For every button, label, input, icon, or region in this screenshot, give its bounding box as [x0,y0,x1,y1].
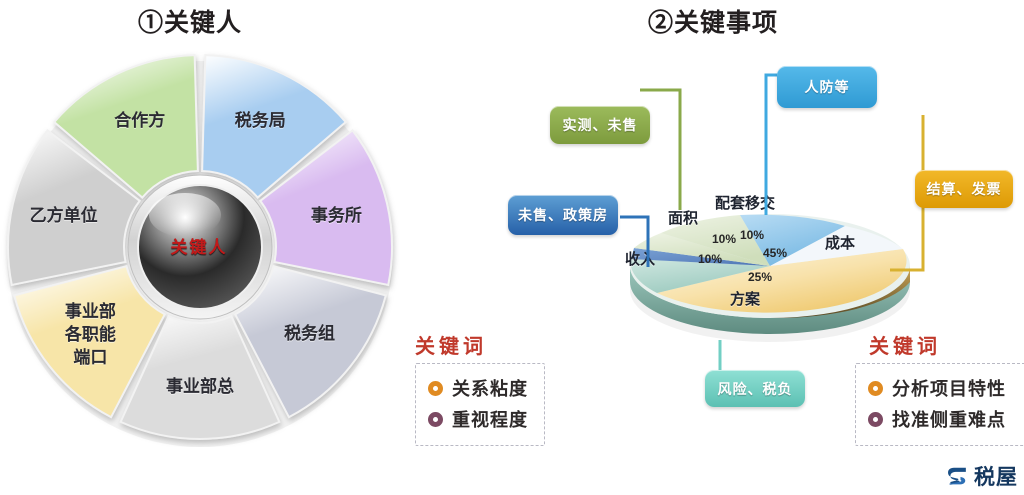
callout-shice-weishou[interactable]: 实测、未售 [550,106,650,144]
callout-label: 结算、发票 [927,179,1002,199]
list-item[interactable]: 分析项目特性 [868,375,1016,401]
keywords-left-block: 关键词 关系粘度 重视程度 [415,330,545,446]
callout-fengxian-shuifu[interactable]: 风险、税负 [705,370,805,407]
bullet-circle-icon [428,412,443,427]
shuiwu-s-logo-icon [945,464,970,489]
watermark-logo: 税屋 [945,461,1018,491]
donut-segment-label: 事业部总 [166,377,234,397]
list-item[interactable]: 重视程度 [428,406,534,432]
keywords-left-box: 关系粘度 重视程度 [415,363,545,446]
keywords-right-title: 关键词 [869,330,1024,359]
keywords-right-block: 关键词 分析项目特性 找准侧重难点 [855,330,1024,446]
callout-jiesuan-fapiao[interactable]: 结算、发票 [915,170,1013,208]
bullet-circle-icon [868,381,883,396]
callout-weishou-zhengcefang[interactable]: 未售、政策房 [508,195,618,235]
keyword-label: 找准侧重难点 [892,406,1006,432]
list-item[interactable]: 关系粘度 [428,375,534,401]
keyword-label: 分析项目特性 [892,375,1006,401]
donut-segment-label: 事业部各职能端口 [54,300,126,369]
donut-segment-label: 乙方单位 [30,206,98,226]
donut-segment-label: 事务所 [311,206,362,226]
callout-renfang[interactable]: 人防等 [777,66,877,108]
callout-label: 风险、税负 [718,379,793,399]
callout-label: 实测、未售 [563,115,638,135]
key-person-donut-chart: 关键人 税务局事务所税务组事业部总事业部各职能端口乙方单位合作方 [0,47,400,447]
keyword-label: 关系粘度 [452,375,528,401]
keywords-right-box: 分析项目特性 找准侧重难点 [855,363,1024,446]
donut-hub-label: 关键人 [142,233,256,258]
bullet-circle-icon [868,412,883,427]
page-title-key-person: ①关键人 [138,3,242,39]
keyword-label: 重视程度 [452,406,528,432]
list-item[interactable]: 找准侧重难点 [868,406,1016,432]
keywords-left-title: 关键词 [415,330,545,359]
donut-segment-label: 合作方 [114,111,165,131]
bullet-circle-icon [428,381,443,396]
callout-label: 人防等 [805,77,850,97]
callout-label: 未售、政策房 [518,205,608,225]
donut-segment-label: 税务组 [284,324,335,344]
donut-segment-label: 税务局 [235,111,286,131]
page-title-key-matters: ②关键事项 [648,3,778,39]
watermark-text: 税屋 [974,461,1018,491]
